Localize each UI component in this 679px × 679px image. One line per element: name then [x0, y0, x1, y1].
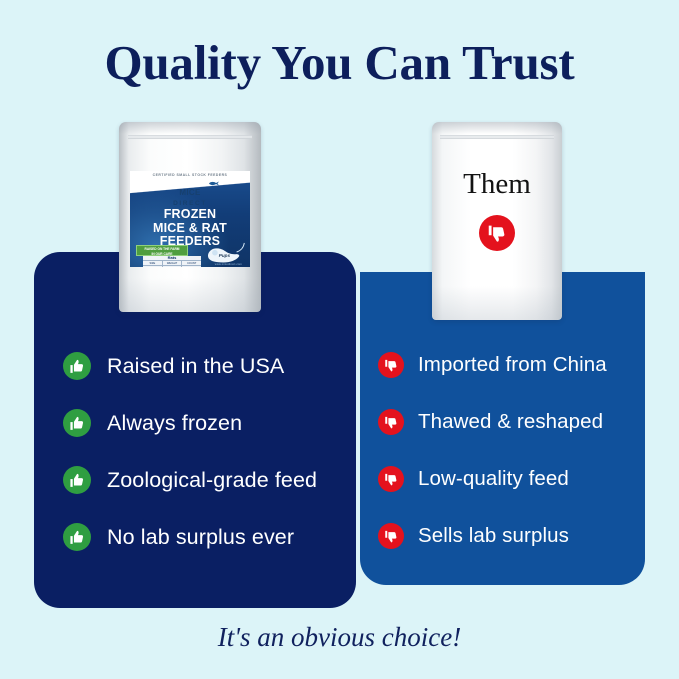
bag-top-fold — [119, 122, 261, 134]
list-item: Thawed & reshaped — [378, 409, 603, 435]
spec-table-header-row: SIZE WEIGHT COUNT — [143, 260, 201, 265]
list-item-label: Zoological-grade feed — [107, 467, 317, 493]
bag-body: CERTIFIED SMALL STOCK FEEDERS MICE DIREC… — [119, 122, 261, 312]
list-item-label: Thawed & reshaped — [418, 409, 603, 435]
bag-zipper — [440, 135, 554, 139]
label-title-line-1: FROZEN — [130, 208, 250, 222]
thumbs-down-icon — [378, 409, 404, 435]
spec-table-value-row: 50 5-9 GRAMS APPROX. — [143, 265, 201, 267]
thumbs-up-icon — [63, 409, 91, 437]
spec-cell: WEIGHT — [163, 261, 183, 265]
bag-bottom-gusset — [432, 286, 562, 320]
list-item: No lab surplus ever — [63, 523, 294, 551]
bag-top-fold — [432, 122, 562, 134]
thumbs-down-icon — [378, 352, 404, 378]
list-item-label: Raised in the USA — [107, 353, 284, 379]
product-bag-them: Them — [432, 122, 562, 320]
spec-cell: APPROX. — [182, 266, 201, 267]
spec-cell: COUNT — [182, 261, 201, 265]
thumbs-down-icon — [479, 215, 515, 251]
label-spec-table: Rats SIZE WEIGHT COUNT 50 5-9 GRAMS APPR… — [143, 256, 201, 267]
label-green-band: RAISED ON THE FARM IN OUR CARE — [136, 245, 188, 256]
list-item-label: Low-quality feed — [418, 466, 569, 492]
label-title-line-2: MICE & RAT — [130, 222, 250, 236]
thumbs-up-icon — [63, 352, 91, 380]
competitor-label: Them — [432, 168, 562, 200]
list-item: Imported from China — [378, 352, 607, 378]
list-item-label: Always frozen — [107, 410, 242, 436]
thumbs-down-icon — [378, 523, 404, 549]
list-item: Raised in the USA — [63, 352, 284, 380]
product-bag-micedirect: CERTIFIED SMALL STOCK FEEDERS MICE DIREC… — [119, 122, 261, 312]
label-website-url: www.micedirect.com — [215, 263, 242, 266]
brand-name-primary: MICE — [179, 188, 200, 197]
bag-zipper — [128, 135, 253, 139]
brand-lockup: MICE DIRECT — [130, 183, 250, 208]
thumbs-up-icon — [63, 523, 91, 551]
list-item-label: No lab surplus ever — [107, 524, 294, 550]
list-item: Sells lab surplus — [378, 523, 569, 549]
mouse-silhouette-icon — [208, 181, 220, 186]
bag-body: Them — [432, 122, 562, 320]
bag-bottom-gusset — [119, 278, 261, 312]
label-top-text: CERTIFIED SMALL STOCK FEEDERS — [130, 173, 250, 177]
spec-cell: 5-9 GRAMS — [163, 266, 183, 267]
infographic-canvas: Quality You Can Trust Raised in the USA — [0, 0, 679, 679]
thumbs-down-icon — [378, 466, 404, 492]
list-item-label: Imported from China — [418, 352, 607, 378]
thumbs-up-icon — [63, 466, 91, 494]
illustration-caption: Pups — [219, 253, 230, 258]
spec-cell: SIZE — [143, 261, 163, 265]
mouse-illustration — [203, 240, 245, 264]
list-item: Zoological-grade feed — [63, 466, 317, 494]
list-item: Always frozen — [63, 409, 242, 437]
product-label: CERTIFIED SMALL STOCK FEEDERS MICE DIREC… — [130, 171, 250, 267]
footer-tagline: It's an obvious choice! — [0, 621, 679, 653]
list-item-label: Sells lab surplus — [418, 523, 569, 549]
page-title: Quality You Can Trust — [0, 34, 679, 92]
list-item: Low-quality feed — [378, 466, 569, 492]
spec-cell: 50 — [143, 266, 163, 267]
